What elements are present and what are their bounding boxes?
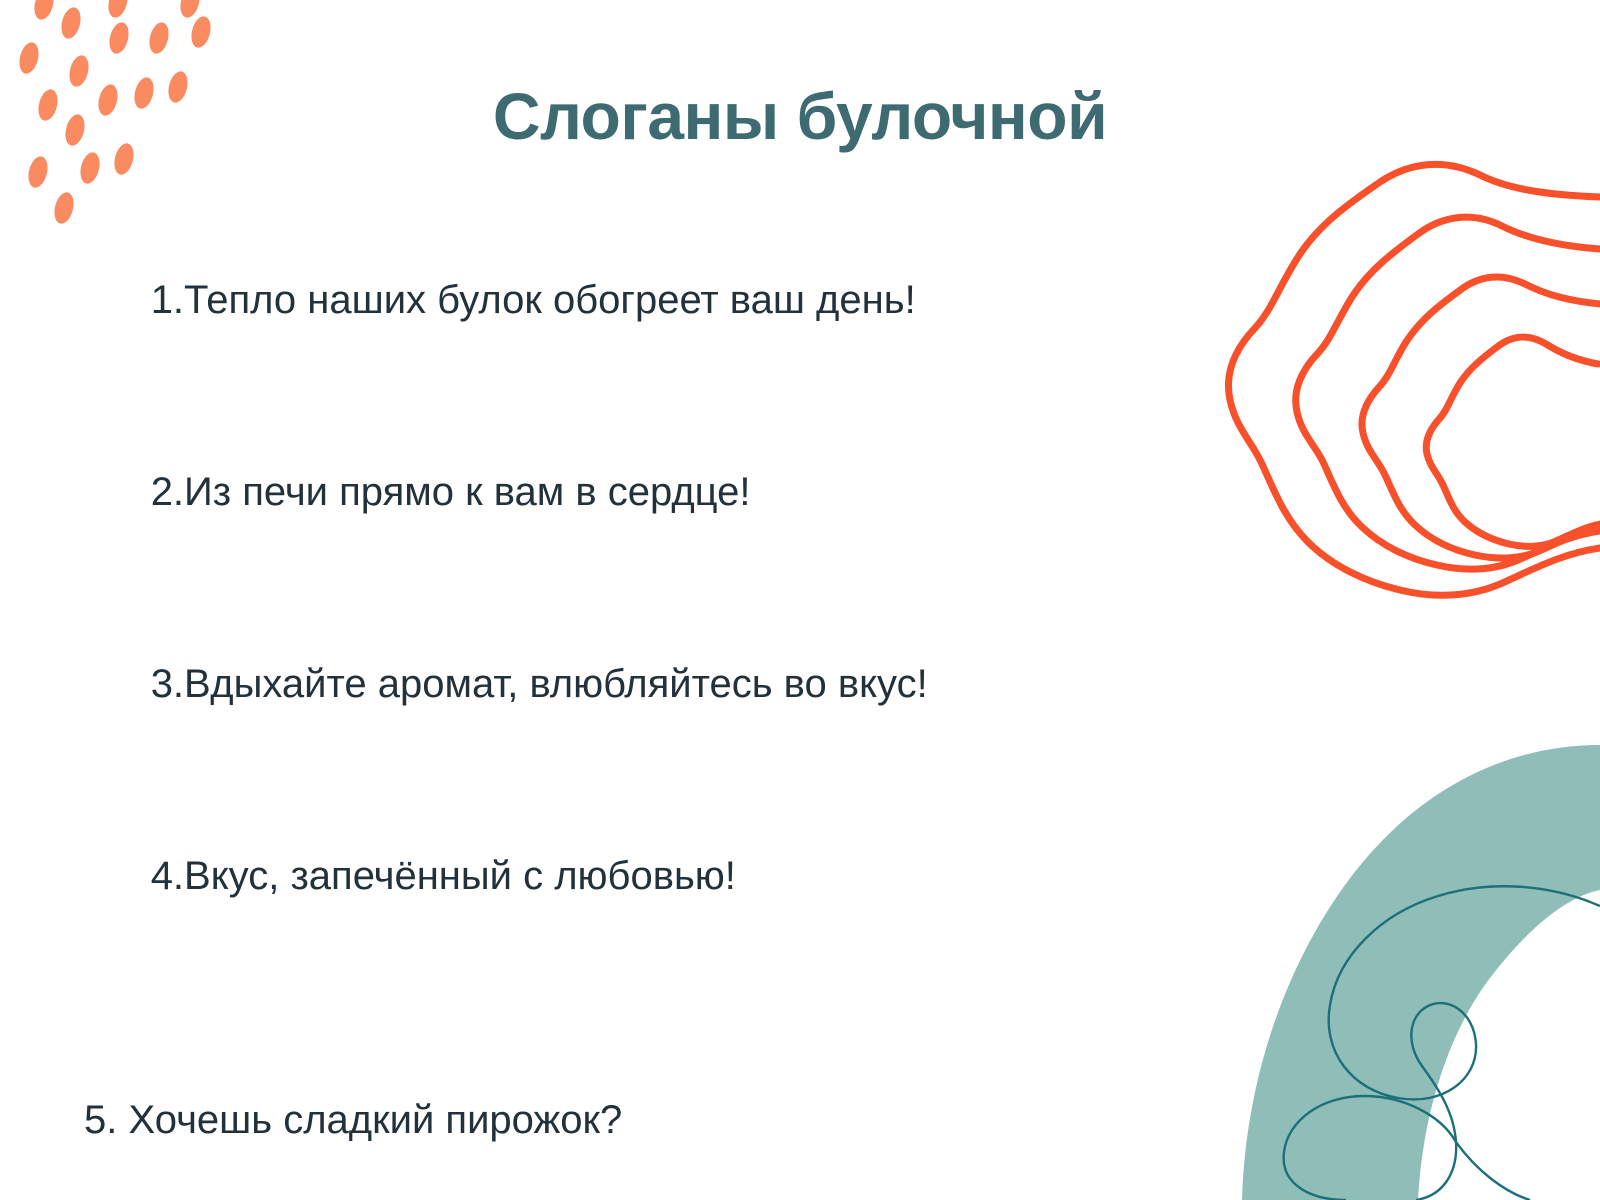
slogan-item-3: 3.Вдыхайте аромат, влюбляйтесь во вкус! [84, 606, 1164, 762]
slogan-item-5: 5. Хочешь сладкий пирожок? Или вкусную с… [84, 990, 1164, 1200]
slogan-item-4: 4.Вкус, запечённый с любовью! [84, 798, 1164, 954]
slogan-line: 1.Тепло наших булок обогреет ваш день! [151, 278, 916, 322]
slogan-line: 2.Из печи прямо к вам в сердце! [151, 470, 751, 514]
slogan-list: 1.Тепло наших булок обогреет ваш день! 2… [84, 222, 1164, 1200]
slogan-line: 3.Вдыхайте аромат, влюбляйтесь во вкус! [151, 662, 928, 706]
slide: Слоганы булочной 1.Тепло наших булок обо… [0, 0, 1600, 1200]
sage-crescent-blob-icon [1170, 700, 1600, 1200]
slogan-item-2: 2.Из печи прямо к вам в сердце! [84, 414, 1164, 570]
slogan-item-1: 1.Тепло наших булок обогреет ваш день! [84, 222, 1164, 378]
slogan-line: 5. Хочешь сладкий пирожок? [84, 1094, 1164, 1146]
orange-concentric-contours-icon [1180, 150, 1600, 600]
page-title: Слоганы булочной [0, 82, 1600, 151]
slogan-line: 4.Вкус, запечённый с любовью! [151, 854, 736, 898]
